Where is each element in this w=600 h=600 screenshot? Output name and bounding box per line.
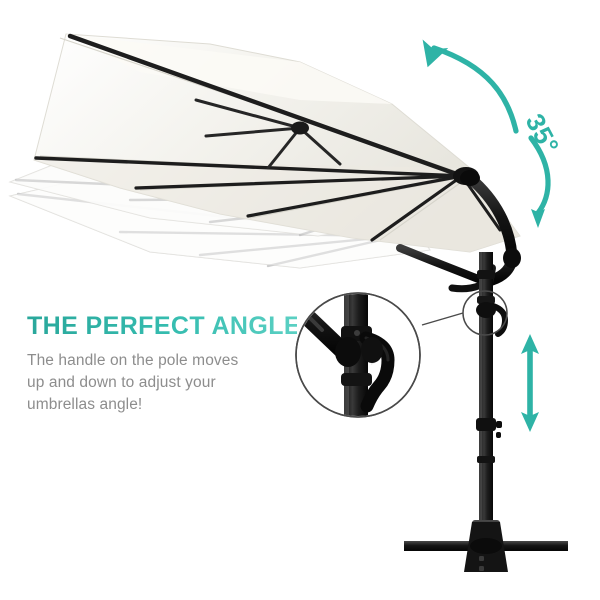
handle-travel-arrow <box>521 334 539 432</box>
description-line-3: umbrellas angle! <box>27 394 297 416</box>
callout-description: The handle on the pole moves up and down… <box>27 350 297 417</box>
umbrella-base <box>404 520 568 572</box>
angle-label: 35° <box>520 109 566 159</box>
magnifier-leader-line <box>422 313 463 325</box>
description-line-2: up and down to adjust your <box>27 372 297 394</box>
umbrella-pole <box>476 252 505 538</box>
description-line-1: The handle on the pole moves <box>27 350 297 372</box>
handle-detail-magnifier <box>286 288 420 428</box>
page-title: THE PERFECT ANGLE <box>27 313 297 341</box>
product-illustration: 35° <box>0 0 600 600</box>
angle-label-text: 35° <box>520 109 566 159</box>
perfect-angle-callout: THE PERFECT ANGLE The handle on the pole… <box>27 313 297 417</box>
infographic-canvas: 35° THE PERFECT ANGLE The handle on the … <box>0 0 600 600</box>
